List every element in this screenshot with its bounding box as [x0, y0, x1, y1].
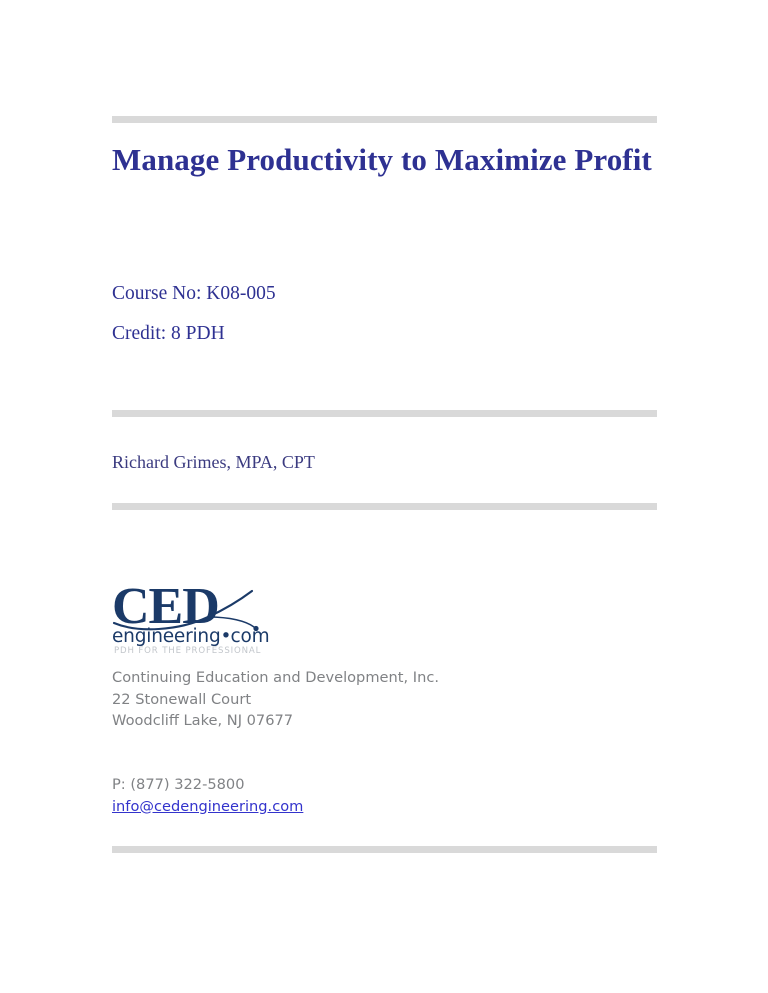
- organization-city-state-zip: Woodcliff Lake, NJ 07677: [112, 710, 439, 732]
- logo-domain-separator: •: [221, 627, 231, 647]
- author-name: Richard Grimes, MPA, CPT: [112, 449, 315, 475]
- organization-street: 22 Stonewall Court: [112, 689, 439, 711]
- course-number: Course No: K08-005: [112, 274, 612, 314]
- organization-address: Continuing Education and Development, In…: [112, 667, 439, 732]
- course-credit: Credit: 8 PDH: [112, 314, 612, 354]
- logo-domain-right: com: [231, 626, 270, 647]
- logo-domain: engineering•com: [112, 627, 269, 647]
- organization-contact: P: (877) 322-5800 info@cedengineering.co…: [112, 774, 303, 817]
- ced-engineering-logo: CED engineering•com PDH FOR THE PROFESSI…: [112, 585, 372, 653]
- organization-phone: P: (877) 322-5800: [112, 774, 303, 796]
- horizontal-rule-bottom: [112, 846, 657, 853]
- horizontal-rule-above-author: [112, 410, 657, 417]
- page-title: Manage Productivity to Maximize Profit: [112, 140, 652, 179]
- organization-name: Continuing Education and Development, In…: [112, 667, 439, 689]
- course-metadata: Course No: K08-005 Credit: 8 PDH: [112, 274, 612, 354]
- horizontal-rule-below-author: [112, 503, 657, 510]
- logo-tagline: PDH FOR THE PROFESSIONAL: [114, 646, 261, 656]
- horizontal-rule-top: [112, 116, 657, 123]
- organization-email-link[interactable]: info@cedengineering.com: [112, 796, 303, 818]
- document-page: Manage Productivity to Maximize Profit C…: [0, 0, 768, 993]
- logo-domain-left: engineering: [112, 626, 221, 647]
